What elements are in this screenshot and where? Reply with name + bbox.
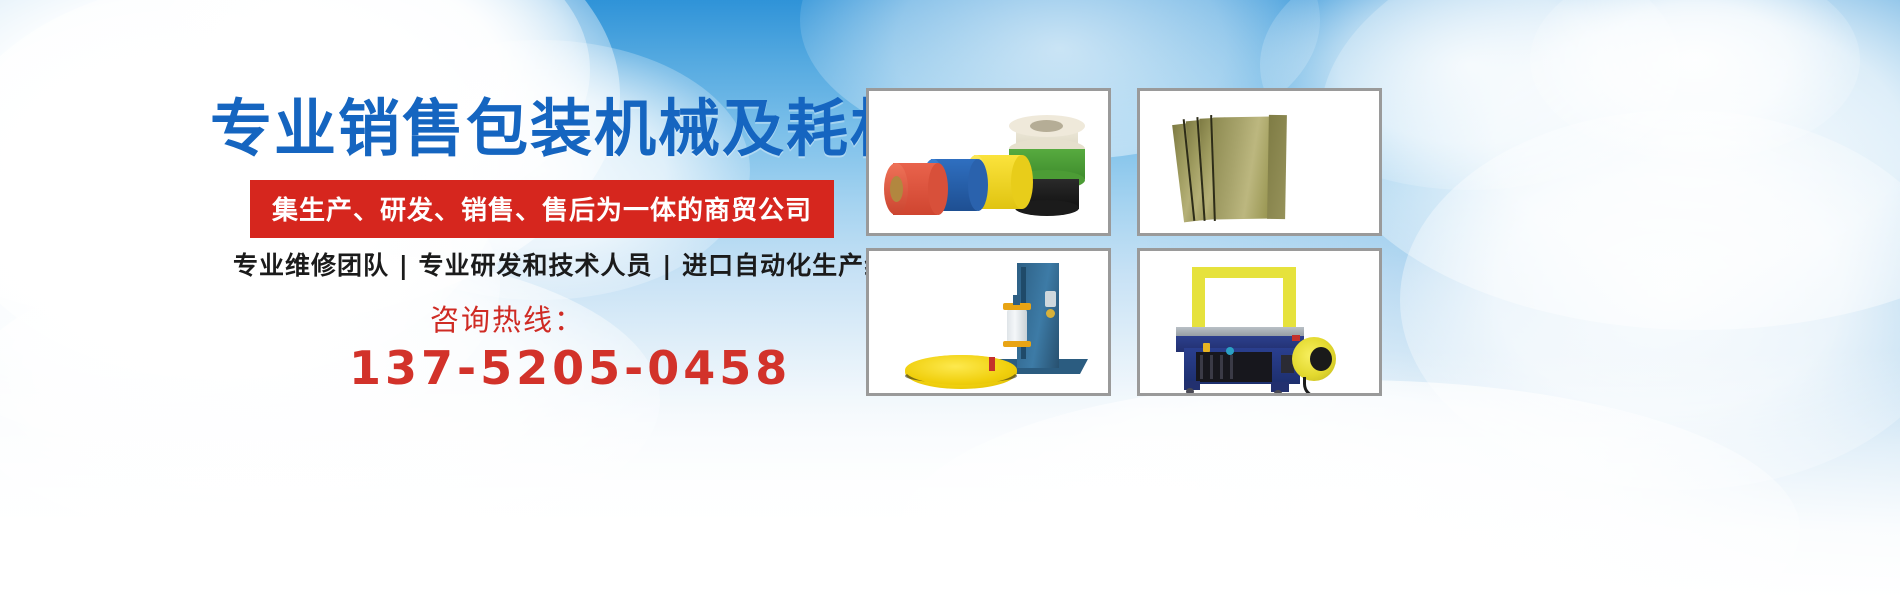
feature-tagline: 专业维修团队 | 专业研发和技术人员 | 进口自动化生产线 xyxy=(233,246,890,282)
product-cell-woven-sacks[interactable] xyxy=(1137,88,1382,236)
promo-banner: 专业销售包装机械及耗材 集生产、研发、销售、售后为一体的商贸公司 专业维修团队 … xyxy=(0,0,1900,600)
product-cell-strapping-machine[interactable] xyxy=(1137,248,1382,396)
pallet-stretch-wrapper-image xyxy=(869,251,1108,393)
product-cell-strap-rolls[interactable] xyxy=(866,88,1111,236)
packing-strap-rolls-image xyxy=(869,91,1108,233)
red-band-text: 集生产、研发、销售、售后为一体的商贸公司 xyxy=(272,196,812,226)
hotline-number[interactable]: 137-5205-0458 xyxy=(349,341,791,395)
headline: 专业销售包装机械及耗材 xyxy=(210,98,914,160)
hotline-label: 咨询热线： xyxy=(430,297,585,339)
woven-sacks-image xyxy=(1140,91,1379,233)
automatic-strapping-machine-image xyxy=(1140,251,1379,393)
product-image-grid xyxy=(866,88,1474,403)
red-highlight-band: 集生产、研发、销售、售后为一体的商贸公司 xyxy=(250,180,834,238)
product-cell-stretch-wrapper[interactable] xyxy=(866,248,1111,396)
